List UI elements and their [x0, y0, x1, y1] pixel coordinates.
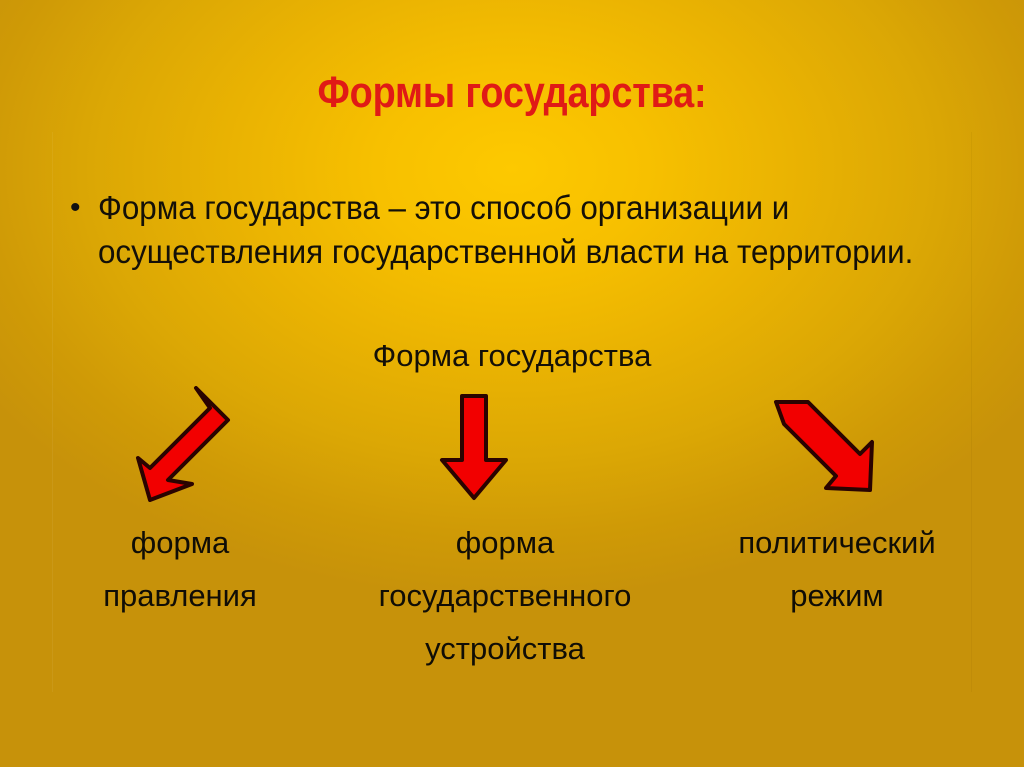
bullet-list: • Форма государства – это способ организ…: [62, 186, 962, 274]
list-item: • Форма государства – это способ организ…: [62, 186, 962, 274]
arrow-down-right-icon: [760, 396, 880, 500]
diagram-root-label: Форма государства: [0, 336, 1024, 376]
branch-line: политический: [680, 516, 994, 569]
presentation-slide: Формы государства: • Форма государства –…: [0, 0, 1024, 767]
branch-form-of-government: форма правления: [30, 516, 330, 622]
branch-form-of-state-structure: форма государственного устройства: [330, 516, 680, 675]
arrow-down-icon: [434, 392, 514, 502]
branch-line: форма: [330, 516, 680, 569]
branch-line: режим: [680, 569, 994, 622]
branch-line: государственного: [330, 569, 680, 622]
branch-line: устройства: [330, 622, 680, 675]
bullet-marker-icon: •: [62, 186, 98, 230]
bullet-item-text: Форма государства – это способ организац…: [98, 186, 919, 274]
slide-title: Формы государства:: [72, 68, 953, 118]
diagram-branches: форма правления форма государственного у…: [30, 516, 994, 675]
branch-line: правления: [30, 569, 330, 622]
branch-political-regime: политический режим: [680, 516, 994, 622]
branch-line: форма: [30, 516, 330, 569]
arrow-down-left-icon: [96, 386, 236, 502]
